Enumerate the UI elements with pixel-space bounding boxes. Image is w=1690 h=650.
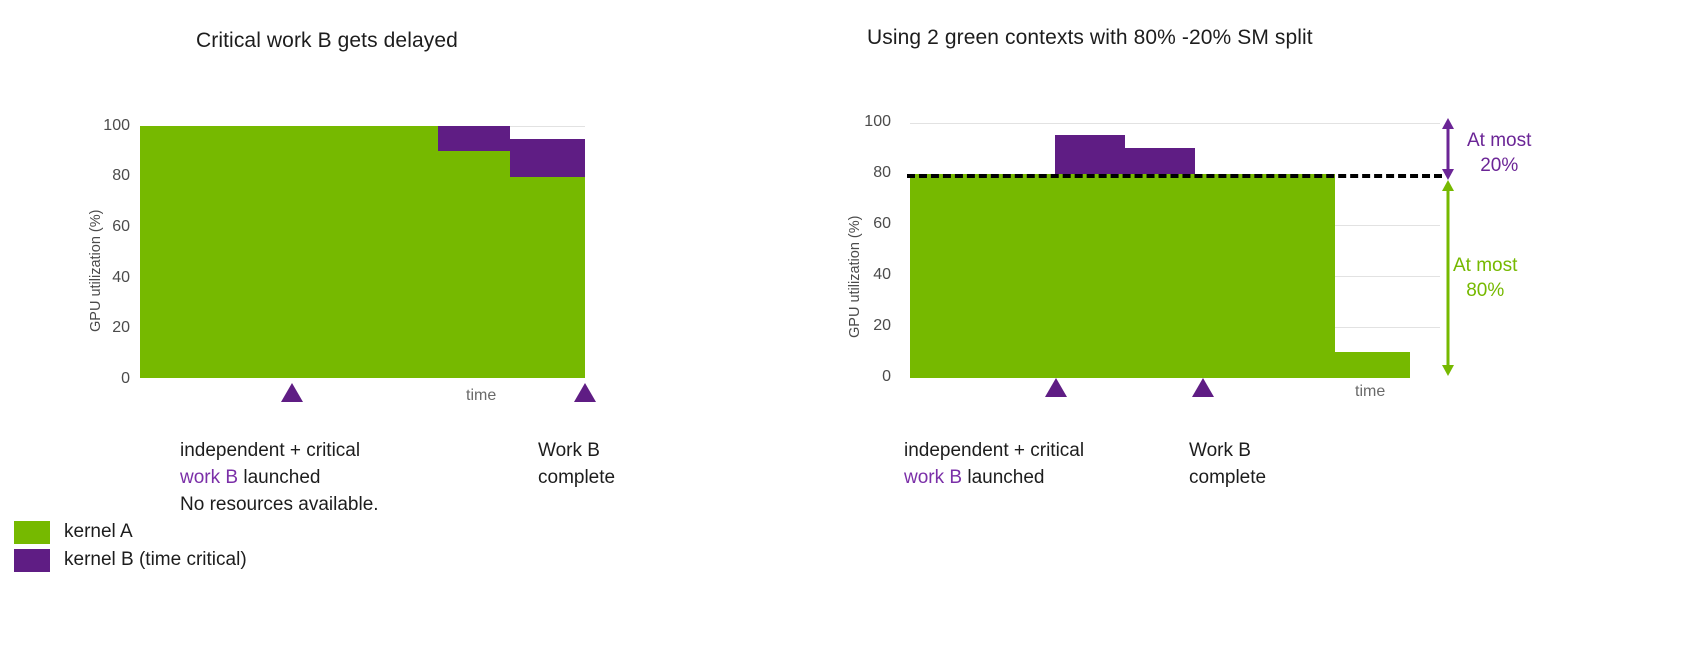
left-ytick-100: 100 [90,117,130,135]
left-ytick-60: 60 [90,218,130,236]
right-gridline-100 [910,123,1440,124]
right-gridline-20 [1335,327,1440,328]
right-caption-complete: Work B complete [1189,437,1266,491]
at-most-20-line2: 20% [1467,153,1531,178]
left-ytick-40: 40 [90,269,130,287]
left-kernel-b-segment-2 [510,139,585,177]
left-marker-triangle-complete [574,383,596,402]
right-marker-triangle-launched [1045,378,1067,397]
left-caption-launched-rest: launched [238,467,320,488]
left-caption-complete-line2: complete [538,464,615,491]
right-caption-launched-line1: independent + critical [904,437,1084,464]
legend-label-kernel-a: kernel A [64,521,133,543]
at-most-80-line2: 80% [1453,278,1517,303]
left-kernel-b-segment-1 [438,126,510,151]
left-caption-launched-line2: work B launched [180,464,379,491]
right-caption-complete-line2: complete [1189,464,1266,491]
left-caption-launched: independent + critical work B launched N… [180,437,379,518]
right-ytick-80: 80 [851,164,891,182]
left-marker-triangle-launched [281,383,303,402]
right-kernel-b-segment-1 [1055,135,1125,174]
right-caption-launched-purple: work B [904,467,962,488]
right-marker-triangle-complete [1192,378,1214,397]
right-chart-title: Using 2 green contexts with 80% -20% SM … [867,26,1313,50]
left-ytick-0: 0 [90,370,130,388]
left-caption-launched-line3: No resources available. [180,491,379,518]
left-ytick-80: 80 [90,167,130,185]
legend-item-kernel-b: kernel B (time critical) [14,546,247,574]
left-caption-complete: Work B complete [538,437,615,491]
right-ytick-0: 0 [851,368,891,386]
legend-swatch-kernel-a [14,521,50,544]
right-kernel-a-segment-1 [910,174,1335,378]
right-ytick-40: 40 [851,266,891,284]
at-most-80-annotation: At most 80% [1453,253,1517,303]
right-kernel-a-segment-2 [1335,352,1410,378]
right-caption-launched-line2: work B launched [904,464,1084,491]
left-kernel-a-segment-3 [510,177,585,378]
left-chart-title: Critical work B gets delayed [196,29,458,53]
right-x-axis-label: time [1355,383,1385,401]
at-most-80-line1: At most [1453,253,1517,278]
left-x-axis-label: time [466,387,496,405]
right-caption-complete-line1: Work B [1189,437,1266,464]
at-most-20-double-arrow-icon [1435,118,1461,180]
left-caption-complete-line1: Work B [538,437,615,464]
right-chart-panel: Using 2 green contexts with 80% -20% SM … [845,0,1690,650]
left-kernel-a-segment-1 [140,126,438,378]
left-kernel-a-segment-2 [438,151,510,378]
left-caption-launched-line1: independent + critical [180,437,379,464]
right-gridline-60 [1335,225,1440,226]
right-kernel-b-segment-2 [1125,148,1195,174]
at-most-20-annotation: At most 20% [1467,128,1531,178]
right-gridline-40 [1335,276,1440,277]
left-caption-launched-purple: work B [180,467,238,488]
right-ytick-60: 60 [851,215,891,233]
left-ytick-20: 20 [90,319,130,337]
legend: kernel A kernel B (time critical) [14,518,247,574]
legend-label-kernel-b: kernel B (time critical) [64,549,247,571]
right-reference-line-80 [907,174,1442,178]
left-chart-panel: Critical work B gets delayed GPU utiliza… [0,0,845,650]
right-ytick-20: 20 [851,317,891,335]
at-most-20-line1: At most [1467,128,1531,153]
legend-item-kernel-a: kernel A [14,518,247,546]
legend-swatch-kernel-b [14,549,50,572]
right-caption-launched-rest: launched [962,467,1044,488]
right-ytick-100: 100 [851,113,891,131]
right-caption-launched: independent + critical work B launched [904,437,1084,491]
